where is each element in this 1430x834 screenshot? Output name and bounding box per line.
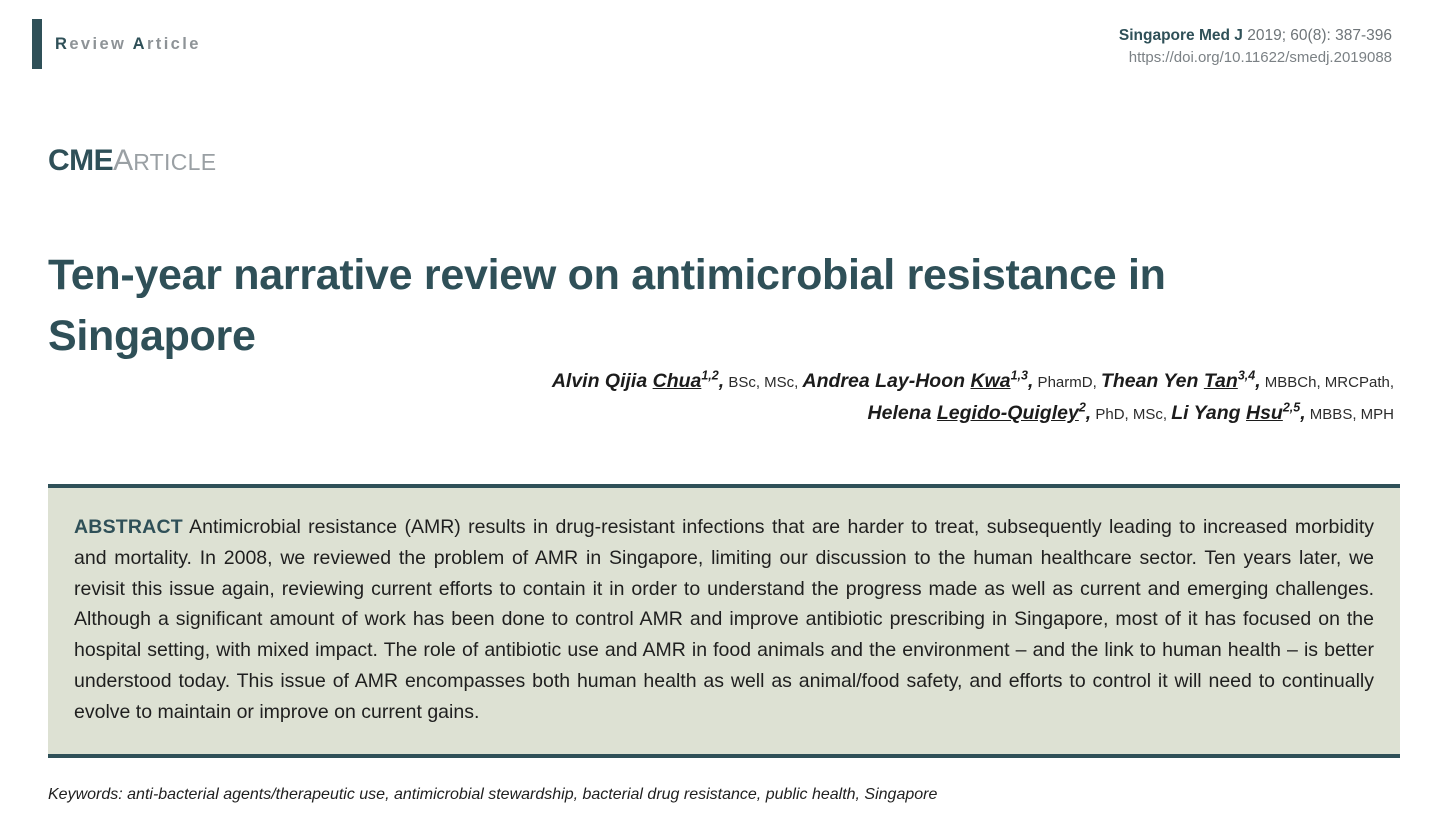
journal-name: Singapore Med J: [1119, 27, 1243, 44]
author-4-affiliation: 2: [1079, 400, 1086, 414]
article-word: ARTICLE: [113, 144, 216, 177]
author-4-given: Helena: [868, 402, 937, 424]
author-3-surname: Tan: [1204, 370, 1238, 392]
author-2-degrees: PharmD,: [1033, 374, 1101, 391]
author-name-4: Helena Legido-Quigley2,: [868, 402, 1092, 424]
author-2-given: Andrea Lay-Hoon: [803, 370, 971, 392]
abstract-label: ABSTRACT: [74, 516, 183, 538]
article-type-cap-a: A: [133, 35, 147, 53]
page-header: Review Article Singapore Med J 2019; 60(…: [0, 0, 1430, 92]
author-line-1: Alvin Qijia Chua1,2, BSc, MSc, Andrea La…: [48, 366, 1394, 398]
cme-label: CME: [48, 144, 113, 177]
article-type-banner: Review Article: [32, 19, 201, 69]
author-2-surname: Kwa: [970, 370, 1010, 392]
author-5-degrees: MBBS, MPH: [1306, 406, 1394, 423]
author-1-affiliation: 1,2: [701, 369, 718, 383]
author-line-2: Helena Legido-Quigley2, PhD, MSc, Li Yan…: [48, 398, 1394, 430]
article-word-initial: A: [113, 144, 133, 177]
article-type-cap-r: R: [55, 35, 69, 53]
author-1-degrees: BSc, MSc,: [724, 374, 802, 391]
author-name-5: Li Yang Hsu2,5,: [1171, 402, 1305, 424]
article-type-text-article: rticle: [147, 35, 201, 53]
accent-bar: [32, 19, 42, 69]
article-word-rest: RTICLE: [133, 149, 216, 175]
author-3-degrees: MBBCh, MRCPath,: [1261, 374, 1394, 391]
abstract-panel: ABSTRACT Antimicrobial resistance (AMR) …: [48, 484, 1400, 758]
author-2-affiliation: 1,3: [1011, 369, 1028, 383]
cme-article-label: CMEARTICLE: [48, 146, 216, 176]
journal-volume-pages: 2019; 60(8): 387-396: [1243, 27, 1392, 44]
author-3-given: Thean Yen: [1101, 370, 1204, 392]
abstract-body: Antimicrobial resistance (AMR) results i…: [74, 516, 1374, 723]
author-list: Alvin Qijia Chua1,2, BSc, MSc, Andrea La…: [48, 366, 1394, 430]
author-name-1: Alvin Qijia Chua1,2,: [552, 370, 724, 392]
article-type-text-review: eview: [69, 35, 132, 53]
author-3-affiliation: 3,4: [1238, 369, 1255, 383]
article-type-label: Review Article: [55, 36, 201, 53]
journal-citation-line: Singapore Med J 2019; 60(8): 387-396: [1119, 24, 1392, 47]
journal-citation-block: Singapore Med J 2019; 60(8): 387-396 htt…: [1119, 24, 1392, 70]
author-name-3: Thean Yen Tan3,4,: [1101, 370, 1261, 392]
page-title: Ten-year narrative review on antimicrobi…: [48, 245, 1378, 367]
author-name-2: Andrea Lay-Hoon Kwa1,3,: [803, 370, 1034, 392]
abstract-text: ABSTRACT Antimicrobial resistance (AMR) …: [74, 512, 1374, 728]
author-5-affiliation: 2,5: [1283, 400, 1300, 414]
author-5-surname: Hsu: [1246, 402, 1283, 424]
author-1-surname: Chua: [653, 370, 702, 392]
author-5-given: Li Yang: [1171, 402, 1246, 424]
author-1-given: Alvin Qijia: [552, 370, 653, 392]
doi-link[interactable]: https://doi.org/10.11622/smedj.2019088: [1119, 47, 1392, 70]
keywords-line: Keywords: anti-bacterial agents/therapeu…: [48, 786, 1400, 804]
author-4-surname: Legido-Quigley: [937, 402, 1079, 424]
author-4-degrees: PhD, MSc,: [1091, 406, 1171, 423]
